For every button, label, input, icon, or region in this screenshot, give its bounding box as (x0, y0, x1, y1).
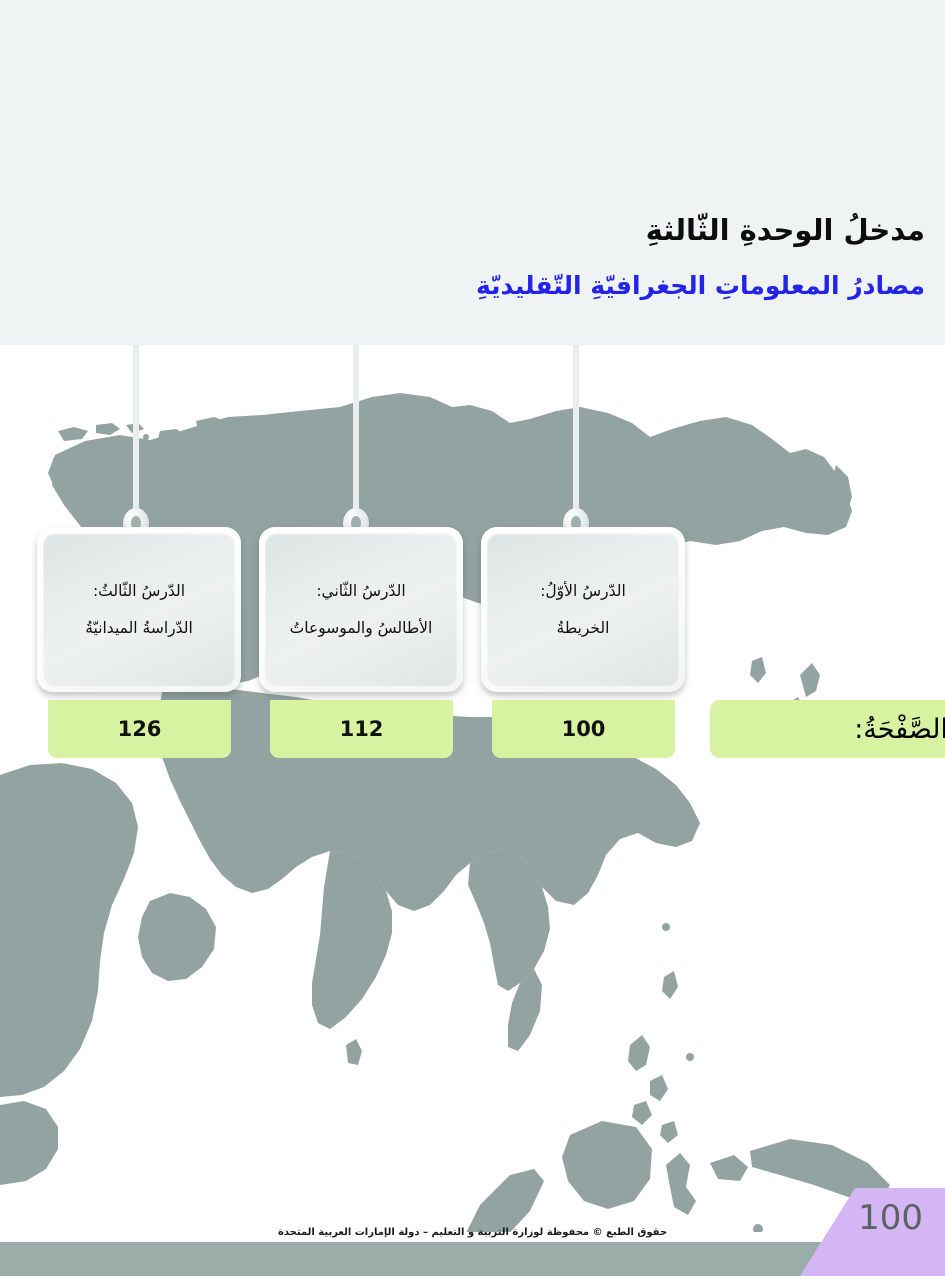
page-label-box: الصَّفْحَةُ: (710, 700, 945, 758)
lesson-card-3[interactable]: الدّرسُ الثّالثُ: الدّراسةُ الميدانيّةُ (37, 527, 241, 692)
copyright-text: حقوق الطبع © محفوظة لوزارة التربية و الت… (278, 1227, 667, 1238)
hanger-string-1 (573, 345, 579, 530)
world-map-illustration (0, 345, 945, 1232)
page-subtitle: مصادرُ المعلوماتِ الجغرافيّةِ التّقليديّ… (20, 272, 925, 301)
footer-page-number: 100 (858, 1198, 923, 1238)
lesson-card-1-inner: الدّرسُ الأوّلُ: الخريطةُ (487, 533, 679, 686)
page-title: مدخلُ الوحدةِ الثّالثةِ (20, 214, 925, 247)
page-label-text: الصَّفْحَةُ: (854, 714, 945, 745)
lesson-3-number: الدّرسُ الثّالثُ: (93, 582, 185, 601)
lesson-1-number: الدّرسُ الأوّلُ: (540, 582, 626, 601)
lesson-card-2[interactable]: الدّرسُ الثّاني: الأطالسُ والموسوعاتُ (259, 527, 463, 692)
lesson-1-page-number: 100 (562, 717, 606, 741)
lesson-2-title: الأطالسُ والموسوعاتُ (290, 619, 433, 638)
lesson-2-page-tab[interactable]: 112 (270, 700, 453, 758)
footer-bar (0, 1242, 853, 1276)
lesson-2-number: الدّرسُ الثّاني: (316, 582, 405, 601)
lesson-card-1[interactable]: الدّرسُ الأوّلُ: الخريطةُ (481, 527, 685, 692)
hanger-string-3 (133, 345, 139, 530)
textbook-page: مدخلُ الوحدةِ الثّالثةِ مصادرُ المعلومات… (0, 0, 945, 1276)
copyright-notice: حقوق الطبع © محفوظة لوزارة التربية و الت… (0, 1220, 945, 1242)
lesson-2-page-number: 112 (340, 717, 384, 741)
page-header-band: مدخلُ الوحدةِ الثّالثةِ مصادرُ المعلومات… (0, 0, 945, 345)
lesson-1-title: الخريطةُ (557, 619, 610, 638)
lesson-card-2-inner: الدّرسُ الثّاني: الأطالسُ والموسوعاتُ (265, 533, 457, 686)
world-map-icon (0, 345, 945, 1232)
hanger-string-2 (353, 345, 359, 530)
lesson-1-page-tab[interactable]: 100 (492, 700, 675, 758)
lesson-3-page-tab[interactable]: 126 (48, 700, 231, 758)
lesson-card-3-inner: الدّرسُ الثّالثُ: الدّراسةُ الميدانيّةُ (43, 533, 235, 686)
lesson-3-page-number: 126 (118, 717, 162, 741)
lesson-3-title: الدّراسةُ الميدانيّةُ (85, 619, 193, 638)
